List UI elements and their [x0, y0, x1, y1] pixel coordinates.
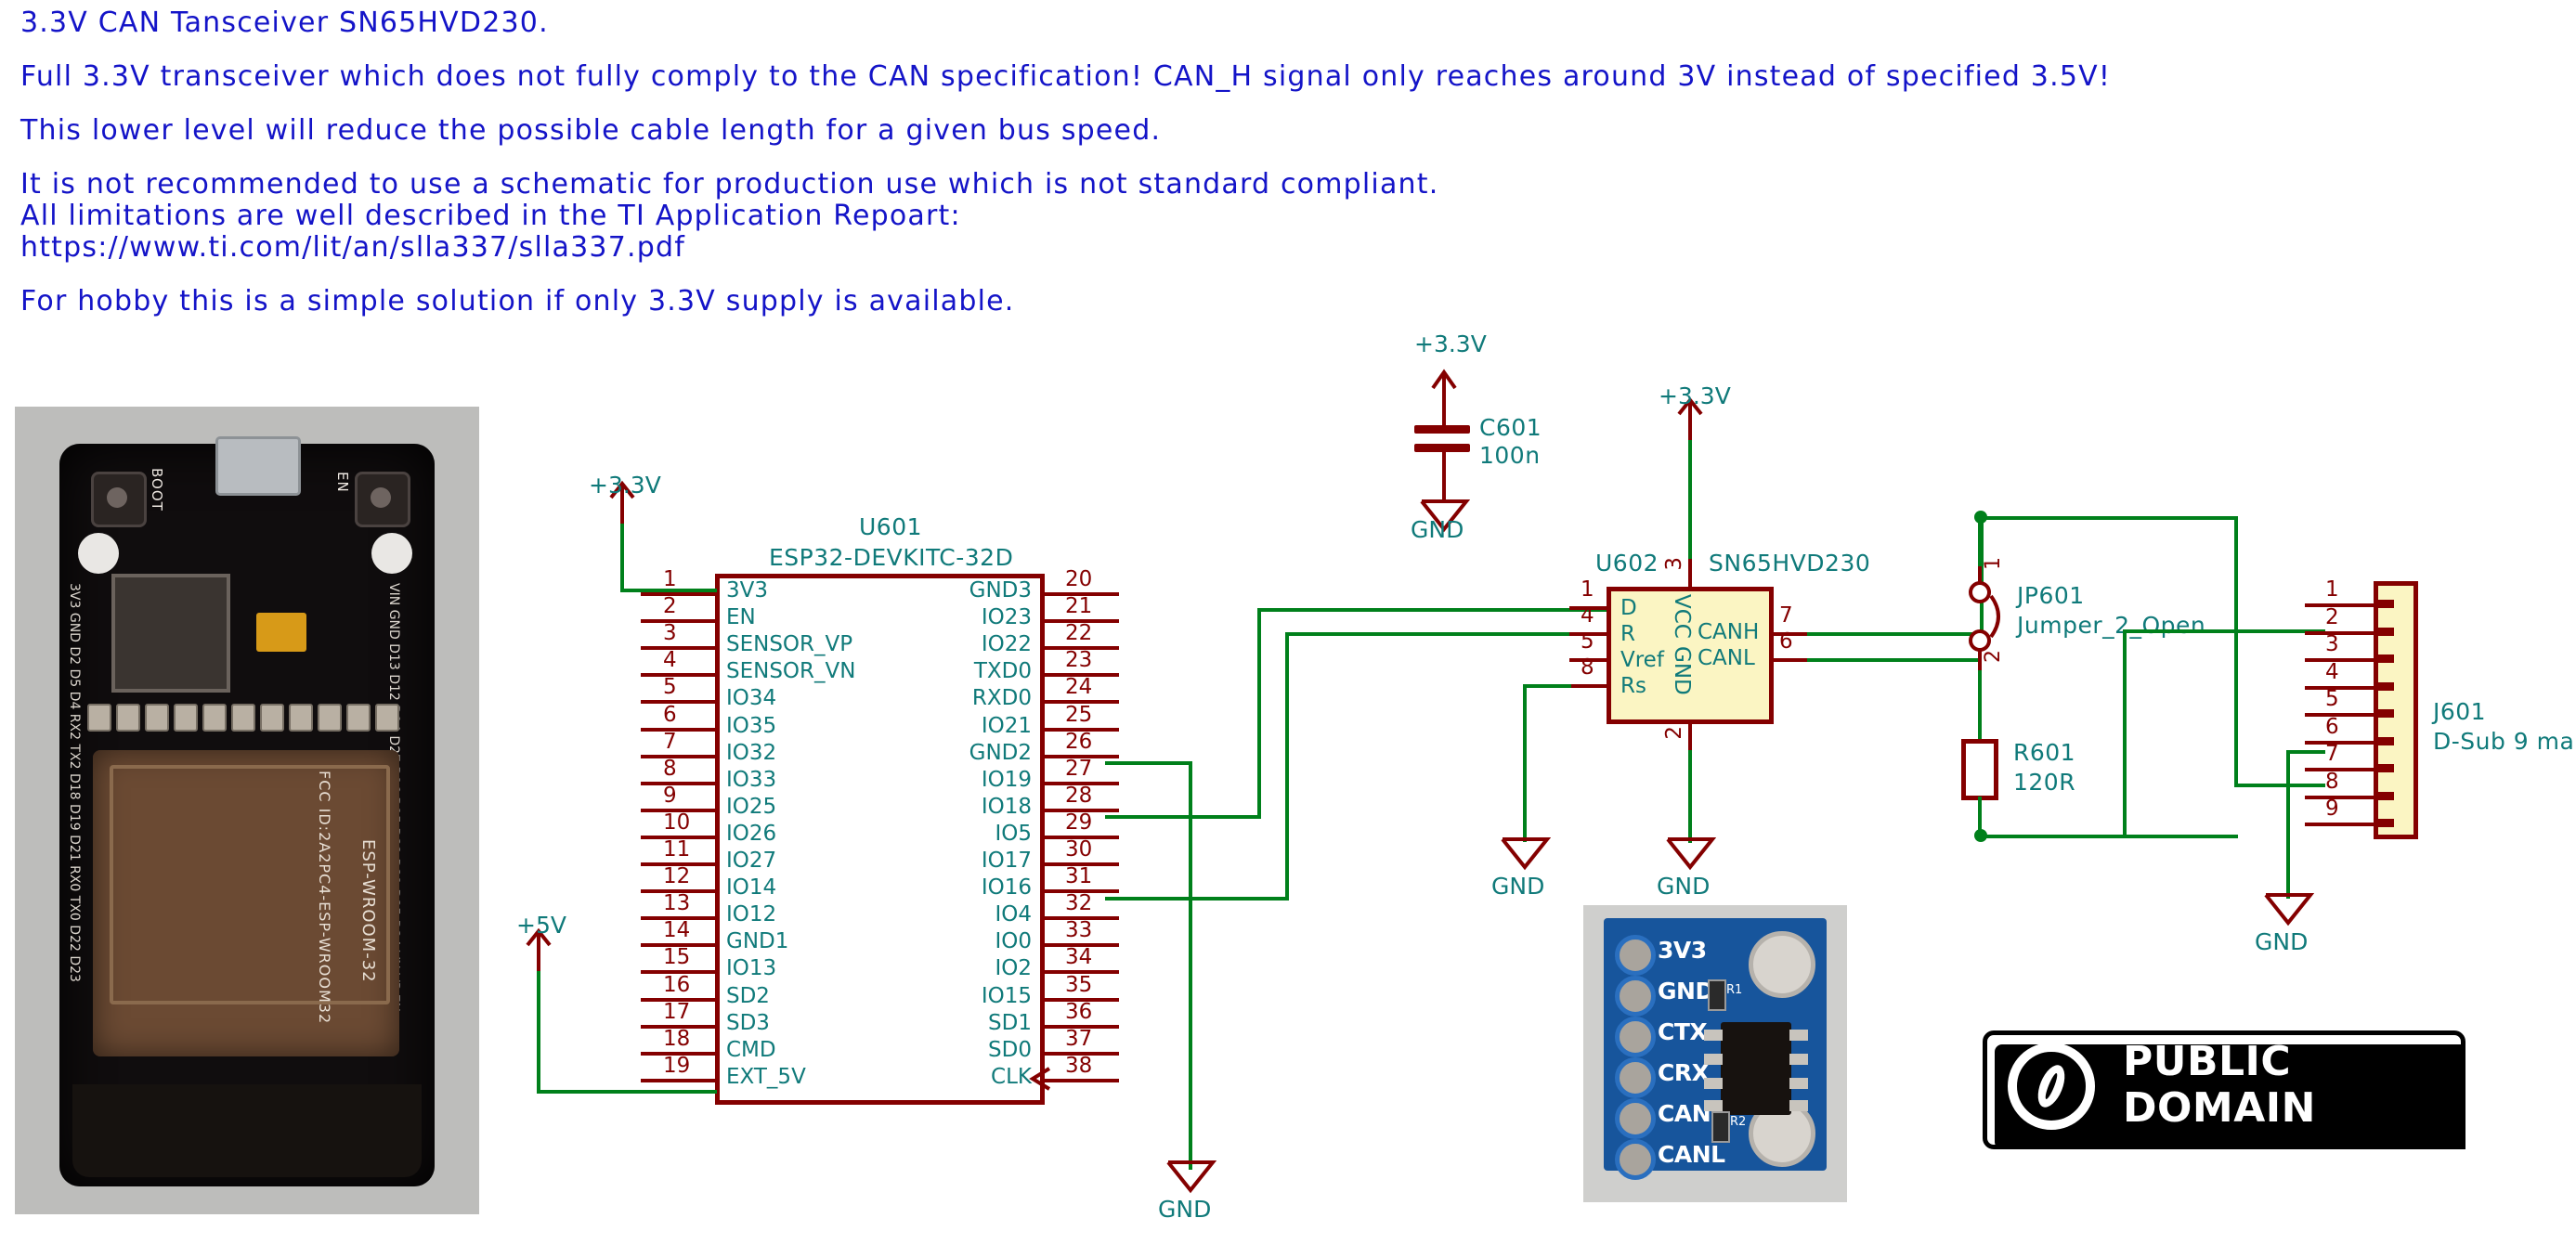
u601-right-pin-name-IO21: IO21	[982, 714, 1032, 738]
u601-right-pin-name-GND2: GND2	[969, 741, 1032, 765]
j601-pin-num-1: 1	[2325, 577, 2339, 602]
u601-right-pin-name-GND3: GND3	[969, 578, 1032, 603]
wire-io5-vert	[1257, 608, 1261, 819]
u601-right-pin-num-20: 20	[1065, 567, 1092, 591]
u601-right-pin-name-IO22: IO22	[982, 632, 1032, 656]
u602-pin8-lead	[1569, 684, 1610, 688]
j601-pin-num-9: 9	[2325, 797, 2339, 821]
u602-pin6-num: 6	[1779, 629, 1793, 654]
wire-rs-vert	[1523, 684, 1527, 842]
u602-pin3-name: VCC	[1670, 594, 1694, 639]
u601-left-pin-name-SENSOR_VP: SENSOR_VP	[726, 632, 852, 656]
u601-right-pin-num-37: 37	[1065, 1027, 1092, 1051]
r601-body	[1961, 739, 1998, 800]
u601-left-pin-num-7: 7	[663, 730, 677, 754]
u601-left-pin-lead-8	[641, 782, 715, 785]
u601-left-pin-name-IO13: IO13	[726, 956, 776, 980]
u602-pin1-num: 1	[1581, 577, 1594, 602]
wire-dsub-pin6-h	[2286, 750, 2325, 754]
gnd-label-u602: GND	[1657, 873, 1710, 900]
power-label-cap-3v3: +3.3V	[1414, 330, 1487, 357]
u601-left-pin-num-16: 16	[663, 973, 690, 997]
u601-left-pin-num-15: 15	[663, 945, 690, 969]
j601-pin-contact-1	[2374, 600, 2394, 608]
u601-right-pin-num-28: 28	[1065, 784, 1092, 808]
u601-right-pin-name-IO4: IO4	[995, 902, 1032, 927]
u601-left-pin-num-10: 10	[663, 810, 690, 835]
u601-left-pin-name-IO33: IO33	[726, 768, 776, 792]
wire-io4-vert	[1285, 632, 1289, 901]
u601-left-pin-num-8: 8	[663, 757, 677, 781]
u601-right-pin-num-27: 27	[1065, 757, 1092, 781]
jp601-ref: JP601	[2017, 582, 2085, 609]
u601-left-pin-num-3: 3	[663, 621, 677, 645]
wire-r601-to-bottom	[1978, 797, 1982, 839]
u601-left-pin-name-IO14: IO14	[726, 875, 776, 900]
u601-right-pin-name-SD1: SD1	[988, 1011, 1032, 1035]
wire-u602-vcc	[1688, 436, 1692, 559]
c601-value: 100n	[1479, 442, 1541, 469]
u601-left-pin-num-19: 19	[663, 1054, 690, 1078]
u601-left-pin-lead-1	[641, 592, 715, 596]
jp601-pin2-num: 2	[1982, 650, 2005, 663]
j601-pin-num-4: 4	[2325, 660, 2339, 684]
power-label-esp-3v3: +3.3V	[589, 472, 661, 499]
u601-right-pin-name-IO23: IO23	[982, 605, 1032, 629]
u601-left-pin-num-17: 17	[663, 1000, 690, 1024]
u601-left-pin-num-5: 5	[663, 675, 677, 699]
u601-left-pin-num-11: 11	[663, 837, 690, 862]
wire-esp-5v-vert	[537, 967, 540, 1094]
u601-right-pin-num-32: 32	[1065, 891, 1092, 915]
u602-pin8-num: 8	[1581, 655, 1594, 680]
u602-pin6-lead	[1770, 658, 1811, 662]
wire-esp-5v-horz	[537, 1090, 717, 1094]
gnd-symbol-rs	[1499, 836, 1551, 873]
j601-pin-num-7: 7	[2325, 742, 2339, 766]
u602-pin3-num: 3	[1662, 557, 1686, 571]
u602-pin1-name: D	[1620, 596, 1637, 620]
j601-pin-lead-5	[2305, 713, 2374, 717]
wire-esp-3v3-vert	[620, 520, 624, 592]
gnd-label-dsub: GND	[2255, 928, 2308, 955]
u601-left-pin-lead-7	[641, 755, 715, 758]
j601-pin-contact-2	[2374, 628, 2394, 636]
u601-left-pin-name-IO25: IO25	[726, 795, 776, 819]
j601-pin-lead-6	[2305, 741, 2374, 745]
j601-pin-num-8: 8	[2325, 770, 2339, 794]
u601-right-pin-name-IO18: IO18	[982, 795, 1032, 819]
j601-pin-num-5: 5	[2325, 687, 2339, 711]
u601-right-pin-name-TXD0: TXD0	[974, 659, 1032, 683]
u602-pin5-name: Vref	[1620, 648, 1664, 672]
u601-left-pin-lead-19	[641, 1079, 715, 1082]
wire-gnd2-horz	[1105, 761, 1192, 765]
u601-left-pin-lead-2	[641, 619, 715, 623]
u601-clk-input-marker	[1029, 1067, 1053, 1091]
wire-canl-bottom-rail	[1978, 835, 2238, 838]
u602-value: SN65HVD230	[1709, 550, 1870, 577]
u602-pin2-lead	[1688, 722, 1692, 754]
u602-pin6-name: CANL	[1698, 646, 1755, 670]
u601-right-pin-name-RXD0: RXD0	[972, 686, 1032, 710]
u602-pin2-num: 2	[1662, 726, 1686, 740]
cap-plate-bottom	[1414, 444, 1470, 452]
u601-right-pin-name-IO16: IO16	[982, 875, 1032, 900]
j601-pin-num-3: 3	[2325, 632, 2339, 656]
u601-left-pin-num-6: 6	[663, 703, 677, 727]
u601-right-pin-num-24: 24	[1065, 675, 1092, 699]
j601-pin-contact-7	[2374, 764, 2394, 772]
cap-plate-top	[1414, 425, 1470, 434]
u602-pin4-name: R	[1620, 622, 1635, 646]
u601-right-pin-num-21: 21	[1065, 594, 1092, 618]
wire-canl-h	[1807, 658, 1982, 662]
j601-pin-lead-4	[2305, 686, 2374, 690]
u601-left-pin-lead-6	[641, 728, 715, 732]
u601-left-pin-name-IO26: IO26	[726, 822, 776, 846]
u601-right-pin-name-IO19: IO19	[982, 768, 1032, 792]
gnd-symbol-esp	[1164, 1159, 1216, 1196]
u601-value: ESP32-DEVKITC-32D	[769, 544, 1013, 571]
u601-left-pin-name-IO34: IO34	[726, 686, 776, 710]
r601-value: 120R	[2013, 769, 2075, 796]
j601-pin-lead-1	[2305, 603, 2374, 607]
gnd-label-esp: GND	[1158, 1196, 1211, 1223]
u602-pin8-name: Rs	[1620, 674, 1646, 698]
u601-right-pin-name-IO15: IO15	[982, 984, 1032, 1008]
u601-right-pin-num-25: 25	[1065, 703, 1092, 727]
power-label-esp-5v: +5V	[516, 912, 566, 939]
gnd-label-cap: GND	[1411, 516, 1464, 543]
wire-canh-to-dsub-vert	[2234, 516, 2238, 787]
u602-pin2-name: GND	[1670, 646, 1694, 695]
u601-right-pin-num-23: 23	[1065, 648, 1092, 672]
wire-canh-top-rail	[1980, 516, 2238, 520]
u601-left-pin-name-SD3: SD3	[726, 1011, 770, 1035]
j601-pin-contact-8	[2374, 792, 2394, 800]
wire-canl-to-dsub-h	[2123, 629, 2325, 633]
wire-canl-to-dsub-vert	[2123, 629, 2127, 838]
u601-left-pin-name-3V3: 3V3	[726, 578, 768, 603]
u601-left-pin-name-IO32: IO32	[726, 741, 776, 765]
u601-left-pin-num-4: 4	[663, 648, 677, 672]
u601-right-pin-name-SD0: SD0	[988, 1038, 1032, 1062]
j601-pin-lead-7	[2305, 768, 2374, 771]
u601-right-pin-name-CLK: CLK	[991, 1065, 1032, 1089]
u601-ref: U601	[859, 513, 922, 540]
power-label-u602-vcc: +3.3V	[1659, 382, 1731, 409]
u601-left-pin-name-EN: EN	[726, 605, 756, 629]
u601-left-pin-lead-5	[641, 700, 715, 704]
u602-pin7-num: 7	[1779, 603, 1793, 628]
schematic-canvas: U601 ESP32-DEVKITC-32D 13V32EN3SENSOR_VP…	[0, 0, 2576, 1244]
u601-left-pin-num-12: 12	[663, 864, 690, 888]
u601-right-pin-name-IO5: IO5	[995, 822, 1032, 846]
wire-io4-h1	[1105, 897, 1289, 901]
wire-io5-h1	[1105, 815, 1261, 819]
u601-left-pin-lead-4	[641, 673, 715, 677]
jp601-symbol[interactable]	[1958, 581, 2023, 655]
r601-ref: R601	[2013, 739, 2075, 766]
u601-right-pin-num-38: 38	[1065, 1054, 1092, 1078]
j601-pin-lead-8	[2305, 796, 2374, 799]
u601-left-pin-num-13: 13	[663, 891, 690, 915]
j601-pin-lead-9	[2305, 823, 2374, 826]
wire-canh-to-dsub-h	[2234, 784, 2325, 787]
j601-pin-contact-5	[2374, 709, 2394, 718]
gnd-symbol-u602	[1664, 836, 1716, 873]
u601-right-pin-name-IO17: IO17	[982, 849, 1032, 873]
u601-left-pin-name-SD2: SD2	[726, 984, 770, 1008]
u601-left-pin-num-2: 2	[663, 594, 677, 618]
u601-left-pin-num-9: 9	[663, 784, 677, 808]
u601-right-pin-num-36: 36	[1065, 1000, 1092, 1024]
u601-right-pin-num-30: 30	[1065, 837, 1092, 862]
u601-right-pin-lead-38	[1045, 1079, 1119, 1082]
wire-rs-horz	[1523, 684, 1571, 688]
u601-left-pin-name-IO35: IO35	[726, 714, 776, 738]
u601-left-pin-lead-3	[641, 646, 715, 650]
u601-right-pin-num-33: 33	[1065, 918, 1092, 942]
wire-dsub-gnd-vert	[2286, 750, 2290, 899]
u602-ref: U602	[1595, 550, 1659, 577]
power-arrow-cap-3v3	[1425, 368, 1463, 423]
u601-left-pin-name-EXT_5V: EXT_5V	[726, 1065, 806, 1089]
u601-right-pin-num-26: 26	[1065, 730, 1092, 754]
j601-pin-contact-3	[2374, 654, 2394, 663]
j601-ref: J601	[2433, 698, 2486, 725]
u602-pin3-lead	[1688, 557, 1692, 589]
u601-right-pin-num-34: 34	[1065, 945, 1092, 969]
u602-pin4-num: 4	[1581, 603, 1594, 628]
u601-right-pin-name-IO2: IO2	[995, 956, 1032, 980]
u602-pin7-name: CANH	[1698, 620, 1759, 644]
wire-u602-gnd	[1688, 750, 1692, 843]
u601-left-pin-num-14: 14	[663, 918, 690, 942]
j601-pin-contact-9	[2374, 819, 2394, 827]
u602-pin5-num: 5	[1581, 629, 1594, 654]
c601-ref: C601	[1479, 414, 1542, 441]
wire-gnd2-vert	[1189, 761, 1192, 1170]
j601-pin-contact-4	[2374, 682, 2394, 691]
j601-pin-num-6: 6	[2325, 715, 2339, 739]
j601-pin-contact-6	[2374, 737, 2394, 745]
j601-pin-lead-3	[2305, 658, 2374, 662]
u601-right-pin-num-29: 29	[1065, 810, 1092, 835]
j601-pin-lead-2	[2305, 631, 2374, 635]
j601-pin-num-2: 2	[2325, 605, 2339, 629]
gnd-label-rs: GND	[1491, 873, 1544, 900]
u601-left-pin-name-IO12: IO12	[726, 902, 776, 927]
u601-left-pin-name-CMD: CMD	[726, 1038, 776, 1062]
wire-esp-3v3-horz	[620, 589, 717, 592]
wire-jp601-to-r601	[1978, 670, 1982, 741]
gnd-symbol-dsub	[2262, 891, 2314, 928]
j601-value: D-Sub 9 male	[2433, 728, 2576, 755]
jp601-value: Jumper_2_Open	[2017, 612, 2205, 639]
cap-bottom-lead	[1442, 452, 1446, 502]
u601-right-pin-name-IO0: IO0	[995, 929, 1032, 953]
u601-left-pin-name-SENSOR_VN: SENSOR_VN	[726, 659, 855, 683]
u601-left-pin-num-18: 18	[663, 1027, 690, 1051]
u601-left-pin-name-IO27: IO27	[726, 849, 776, 873]
u601-right-pin-num-22: 22	[1065, 621, 1092, 645]
u601-left-pin-name-GND1: GND1	[726, 929, 788, 953]
jp601-pin1-num: 1	[1982, 557, 2005, 570]
u601-right-pin-num-31: 31	[1065, 864, 1092, 888]
u601-right-pin-num-35: 35	[1065, 973, 1092, 997]
